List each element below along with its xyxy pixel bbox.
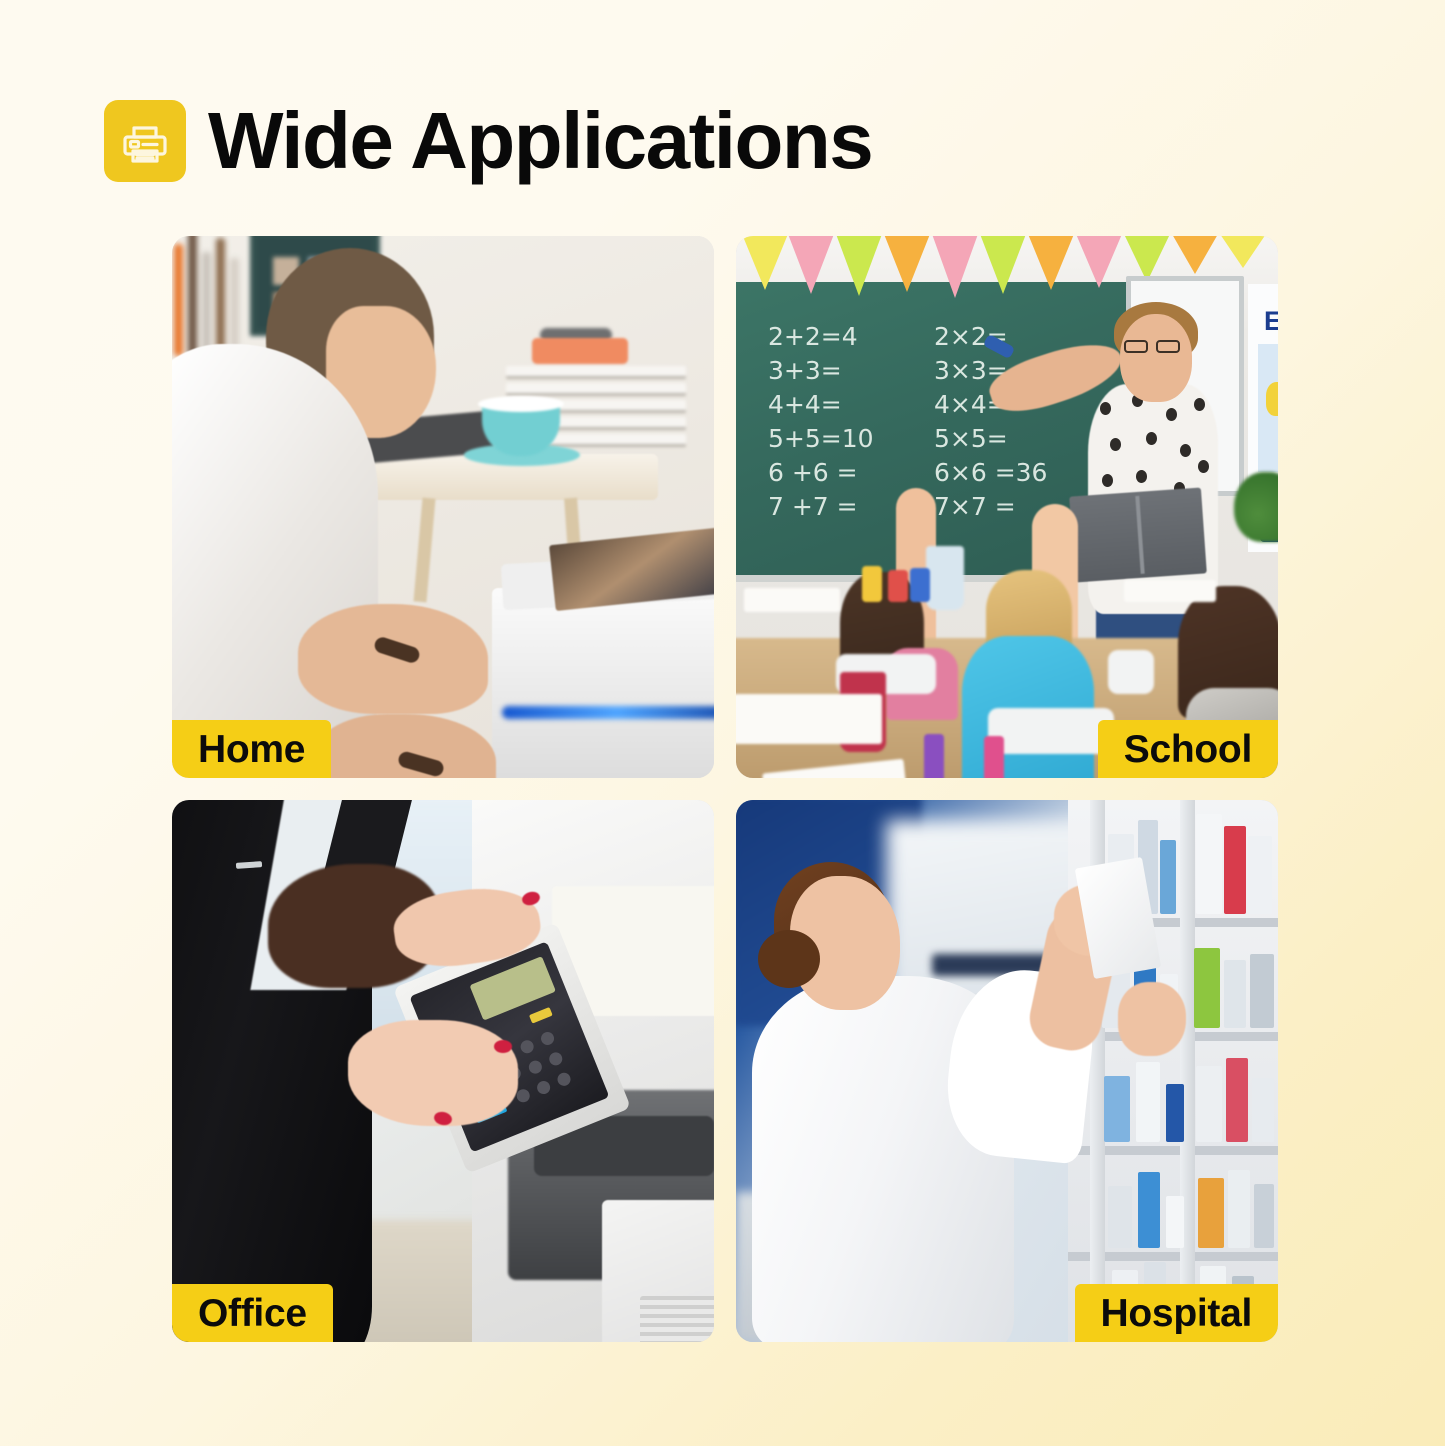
- school-photo: 2+2=4 3+3= 4+4= 5+5=10 6 +6 = 7 +7 = 2×2…: [736, 236, 1278, 778]
- printer-device: [492, 588, 714, 778]
- student-cyan: [962, 636, 1094, 778]
- office-photo: [172, 800, 714, 1342]
- pencil-cup-blue: [926, 546, 964, 610]
- europe-map: [1258, 344, 1278, 472]
- applications-grid: Home 2+2=4 3+3= 4+4= 5+5=10 6 +6 = 7 +7 …: [172, 236, 1278, 1342]
- hospital-photo: [736, 800, 1278, 1342]
- panel-badge-home: Home: [172, 720, 331, 778]
- panel-badge-hospital: Hospital: [1075, 1284, 1278, 1342]
- application-panel-home[interactable]: Home: [172, 236, 714, 778]
- open-book: [1069, 488, 1207, 583]
- glasses: [1124, 340, 1182, 353]
- page-title: Wide Applications: [208, 101, 872, 181]
- europe-poster-title: EUROP: [1264, 306, 1278, 337]
- panel-badge-school: School: [1098, 720, 1278, 778]
- panel-label-office: Office: [198, 1294, 307, 1333]
- home-photo: [172, 236, 714, 778]
- orange-box: [532, 338, 628, 364]
- panel-label-school: School: [1124, 730, 1252, 769]
- application-panel-office[interactable]: Office: [172, 800, 714, 1342]
- panel-label-hospital: Hospital: [1101, 1294, 1252, 1333]
- person-home: [172, 244, 448, 778]
- chalkboard-sums-right: 2×2= 3×3= 4×4= 5×5= 6×6 =36 7×7 =: [934, 320, 1047, 524]
- application-panel-hospital[interactable]: Hospital: [736, 800, 1278, 1342]
- panel-label-home: Home: [198, 730, 305, 769]
- printer-icon: [104, 100, 186, 182]
- panel-badge-office: Office: [172, 1284, 333, 1342]
- page-header: Wide Applications: [104, 100, 872, 182]
- application-panel-school[interactable]: 2+2=4 3+3= 4+4= 5+5=10 6 +6 = 7 +7 = 2×2…: [736, 236, 1278, 778]
- hand-pressing-keys: [348, 1020, 518, 1126]
- chalkboard-sums-left: 2+2=4 3+3= 4+4= 5+5=10 6 +6 = 7 +7 =: [768, 320, 874, 524]
